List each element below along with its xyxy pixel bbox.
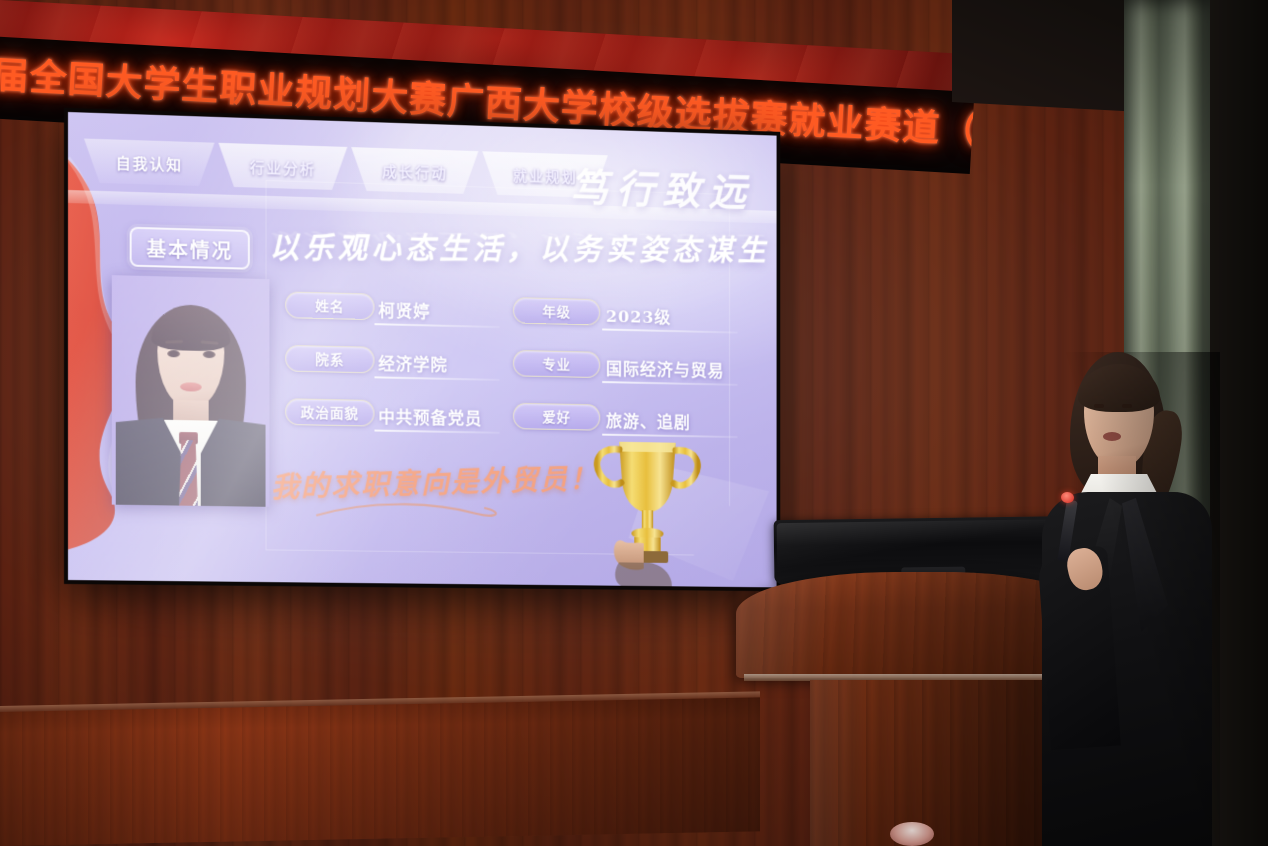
presenter-eye-right xyxy=(1122,404,1132,408)
presenter-mouth-speaking xyxy=(1103,432,1121,441)
presenter-eyebrow-left xyxy=(1092,396,1105,399)
trophy-icon xyxy=(581,420,713,587)
podium-base-object xyxy=(890,822,934,846)
slide-tab-row: 自我认知 行业分析 成长行动 就业规划 笃行致远 xyxy=(68,138,777,211)
info-underline xyxy=(374,323,499,327)
floor-shading xyxy=(0,697,760,846)
info-label-pill: 姓名 xyxy=(285,291,374,320)
presentation-scene: 三届全国大学生职业规划大赛广西大学校级选拔赛就业赛道（本科生组） xyxy=(0,0,1268,846)
handwriting-underline-swoosh xyxy=(314,498,526,527)
slide-calligraphy-title: 笃行致远 xyxy=(570,156,754,218)
presenter-eyebrow-right xyxy=(1121,396,1134,399)
podium-body-shading xyxy=(810,680,1048,846)
info-underline xyxy=(602,381,737,385)
presenter-person xyxy=(1030,352,1220,846)
info-value: 国际经济与贸易 xyxy=(606,355,724,382)
portrait-photo xyxy=(112,275,270,507)
tab-label: 就业规划 xyxy=(513,165,578,188)
stage-floor xyxy=(0,697,760,846)
info-row: 院系 经济学院 专业 国际经济与贸易 xyxy=(285,345,741,407)
info-underline xyxy=(374,430,499,434)
projection-screen: 自我认知 行业分析 成长行动 就业规划 笃行致远 基本情况 以乐观心态 xyxy=(68,112,777,587)
slide-slogan-reflection: 以乐观心态生活，以务实姿态谋生 xyxy=(269,227,770,254)
info-label-pill: 年级 xyxy=(513,297,600,325)
portrait-projector-wash xyxy=(112,275,270,507)
podium-body xyxy=(810,680,1048,846)
slide-canvas: 自我认知 行业分析 成长行动 就业规划 笃行致远 基本情况 以乐观心态 xyxy=(68,112,777,587)
ceiling-shadow xyxy=(952,0,1142,112)
info-label-pill: 政治面貌 xyxy=(285,398,374,426)
section-badge-basic-info: 基本情况 xyxy=(130,227,250,270)
info-underline xyxy=(602,328,737,333)
slide-tab-self-awareness[interactable]: 自我认知 xyxy=(84,139,215,185)
info-value: 柯贤婷 xyxy=(378,297,430,323)
slide-tab-industry-analysis[interactable]: 行业分析 xyxy=(218,143,347,189)
info-label-pill: 院系 xyxy=(285,345,374,374)
tab-label: 自我认知 xyxy=(116,153,183,176)
tab-label: 行业分析 xyxy=(250,157,316,180)
info-underline xyxy=(374,376,499,380)
info-value: 2023级 xyxy=(606,302,671,328)
info-value: 中共预备党员 xyxy=(378,403,482,430)
tab-label: 成长行动 xyxy=(382,161,448,184)
info-label-pill: 专业 xyxy=(513,350,600,378)
slide-tab-growth-action[interactable]: 成长行动 xyxy=(351,147,478,192)
presenter-eye-left xyxy=(1094,404,1104,408)
info-value: 经济学院 xyxy=(378,350,447,376)
